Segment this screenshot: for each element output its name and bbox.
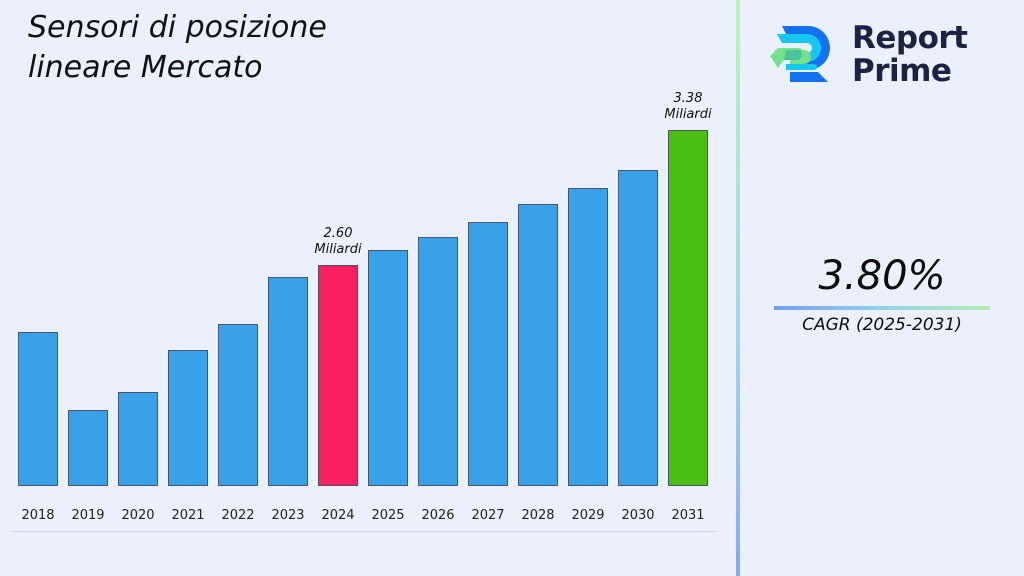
bar-2021[interactable] [168,350,208,486]
brand-panel: Report Prime 3.80% CAGR (2025-2031) [740,0,1024,576]
report-prime-logo-icon [764,20,840,90]
bar-2030[interactable] [618,170,658,486]
bar-2024[interactable] [318,265,358,486]
bar-group-2022[interactable]: 2022 [218,324,258,531]
bar-group-2024[interactable]: 2.60 Miliardi2024 [318,265,358,531]
chart-panel: Sensori di posizione lineare Mercato 201… [0,0,736,576]
bar-group-2023[interactable]: 2023 [268,277,308,531]
bar-2020[interactable] [118,392,158,486]
brand-logo: Report Prime [764,14,1008,96]
bar-group-2030[interactable]: 2030 [618,170,658,531]
bar-series: 2018201920202021202220232.60 Miliardi202… [0,120,736,576]
bar-group-2018[interactable]: 2018 [18,332,58,531]
bar-value-label-2031: 3.38 Miliardi [628,91,748,123]
bar-group-2019[interactable]: 2019 [68,410,108,531]
bar-2018[interactable] [18,332,58,486]
bar-group-2021[interactable]: 2021 [168,350,208,531]
bar-group-2028[interactable]: 2028 [518,204,558,531]
brand-name-line1: Report [852,20,968,56]
bar-group-2026[interactable]: 2026 [418,237,458,531]
brand-name: Report Prime [852,22,968,88]
bar-group-2025[interactable]: 2025 [368,250,408,531]
bar-2031[interactable] [668,130,708,486]
bar-group-2031[interactable]: 3.38 Miliardi2031 [668,130,708,531]
page-title: Sensori di posizione lineare Mercato [28,8,668,88]
cagr-value: 3.80% [756,252,1008,300]
bar-group-2029[interactable]: 2029 [568,188,608,531]
bar-2025[interactable] [368,250,408,486]
bar-2027[interactable] [468,222,508,486]
bar-2022[interactable] [218,324,258,486]
bar-group-2020[interactable]: 2020 [118,392,158,531]
cagr-divider-rule [774,306,990,310]
cagr-block: 3.80% CAGR (2025-2031) [756,252,1008,336]
bar-group-2027[interactable]: 2027 [468,222,508,531]
bar-chart-plot-area: 2018201920202021202220232.60 Miliardi202… [0,120,736,576]
bar-2028[interactable] [518,204,558,486]
bar-2029[interactable] [568,188,608,486]
bar-2023[interactable] [268,277,308,486]
bar-2026[interactable] [418,237,458,486]
bar-2019[interactable] [68,410,108,486]
cagr-caption: CAGR (2025-2031) [756,314,1008,336]
brand-name-line2: Prime [852,53,951,89]
infographic-root: Sensori di posizione lineare Mercato 201… [0,0,1024,576]
x-axis-tick-2031: 2031 [653,508,723,523]
